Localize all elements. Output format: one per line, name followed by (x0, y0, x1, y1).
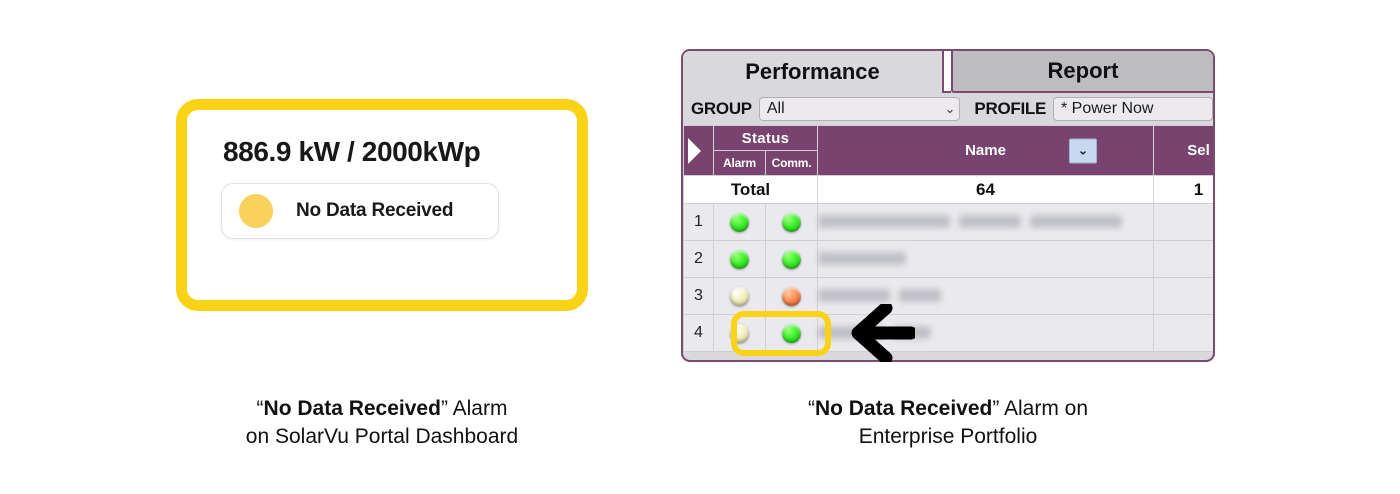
name-header[interactable]: Name ⌄ (818, 126, 1154, 176)
caption-right-suffix: ” Alarm on (992, 397, 1088, 420)
portfolio-table: Status Name ⌄ Sel Alarm Comm. Total 64 1… (683, 125, 1215, 352)
status-led-pale-icon (730, 324, 749, 343)
dashboard-card-highlight-border: 886.9 kW / 2000kWp No Data Received (176, 99, 588, 311)
profile-filter-label: PROFILE (974, 99, 1046, 119)
row-index: 2 (684, 241, 714, 278)
redacted-text-block (818, 215, 950, 228)
status-led-green-icon (782, 250, 801, 269)
alarm-status-label: No Data Received (296, 200, 453, 222)
filter-bar: GROUP All ⌄ PROFILE * Power Now (683, 93, 1213, 125)
row-index: 4 (684, 315, 714, 352)
caption-left-line1: “No Data Received” Alarm (140, 395, 624, 423)
table-row[interactable]: 1 (684, 204, 1216, 241)
comm-status-cell[interactable] (766, 278, 818, 315)
row-marker-header[interactable] (684, 126, 714, 176)
table-row[interactable]: 3 (684, 278, 1216, 315)
tab-strip: Performance Report (683, 51, 1213, 93)
table-body: Total 64 1 1234 (684, 176, 1216, 352)
alarm-sub-header: Alarm (714, 151, 766, 176)
triangle-right-icon (688, 138, 701, 164)
quote-open: “ (808, 397, 815, 420)
select-cell[interactable] (1154, 315, 1216, 352)
redacted-text-block (818, 252, 906, 265)
alarm-status-cell[interactable] (714, 241, 766, 278)
alarm-status-cell[interactable] (714, 278, 766, 315)
caption-left-emphasis: No Data Received (264, 397, 441, 420)
profile-select[interactable]: * Power Now (1053, 97, 1213, 121)
status-led-pale-icon (730, 287, 749, 306)
status-dot-icon (239, 194, 273, 228)
alarm-status-cell[interactable] (714, 204, 766, 241)
tab-separator (942, 51, 951, 93)
caption-left: “No Data Received” Alarm on SolarVu Port… (140, 395, 624, 451)
dashboard-card-content: 886.9 kW / 2000kWp No Data Received (187, 110, 577, 300)
caption-right-line1: “No Data Received” Alarm on (700, 395, 1196, 423)
site-name-cell[interactable] (818, 241, 1154, 278)
status-led-orange-icon (782, 287, 801, 306)
total-row-select: 1 (1154, 176, 1216, 204)
caption-left-line2: on SolarVu Portal Dashboard (140, 423, 624, 451)
comm-status-cell[interactable] (766, 204, 818, 241)
total-row-label: Total (684, 176, 818, 204)
status-led-green-icon (782, 213, 801, 232)
group-filter-label: GROUP (691, 99, 752, 119)
redacted-text-block (818, 289, 890, 302)
quote-open: “ (257, 397, 264, 420)
status-led-green-icon (730, 250, 749, 269)
enterprise-portfolio-panel: Performance Report GROUP All ⌄ PROFILE *… (681, 49, 1215, 362)
select-cell[interactable] (1154, 241, 1216, 278)
group-select[interactable]: All ⌄ (759, 97, 961, 121)
solarvu-dashboard-card-region: 886.9 kW / 2000kWp No Data Received (176, 99, 588, 311)
chevron-down-icon: ⌄ (945, 103, 956, 116)
caption-right-line2: Enterprise Portfolio (700, 423, 1196, 451)
redacted-text-block (1030, 215, 1122, 228)
tab-performance[interactable]: Performance (683, 51, 942, 93)
select-header[interactable]: Sel (1154, 126, 1216, 176)
status-led-green-icon (782, 324, 801, 343)
status-header: Status (714, 126, 818, 151)
comm-status-cell[interactable] (766, 241, 818, 278)
row-index: 1 (684, 204, 714, 241)
name-header-label: Name (965, 142, 1006, 159)
tab-report[interactable]: Report (951, 51, 1213, 93)
chevron-down-icon[interactable]: ⌄ (1069, 138, 1097, 163)
status-led-green-icon (730, 213, 749, 232)
group-select-value: All (767, 100, 785, 118)
caption-left-suffix: ” Alarm (441, 397, 508, 420)
caption-right-emphasis: No Data Received (815, 397, 992, 420)
select-cell[interactable] (1154, 278, 1216, 315)
redacted-text-block (899, 289, 941, 302)
alarm-status-pill[interactable]: No Data Received (221, 183, 499, 239)
select-cell[interactable] (1154, 204, 1216, 241)
table-header: Status Name ⌄ Sel Alarm Comm. (684, 126, 1216, 176)
profile-select-value: * Power Now (1061, 100, 1153, 118)
caption-right: “No Data Received” Alarm on Enterprise P… (700, 395, 1196, 451)
comm-sub-header: Comm. (766, 151, 818, 176)
table-row[interactable]: 4 (684, 315, 1216, 352)
arrow-left-icon (845, 304, 915, 362)
alarm-status-cell[interactable] (714, 315, 766, 352)
comm-status-cell[interactable] (766, 315, 818, 352)
total-row: Total 64 1 (684, 176, 1216, 204)
power-reading-value: 886.9 kW / 2000kWp (223, 138, 543, 166)
table-row[interactable]: 2 (684, 241, 1216, 278)
row-index: 3 (684, 278, 714, 315)
total-row-count: 64 (818, 176, 1154, 204)
site-name-cell[interactable] (818, 204, 1154, 241)
redacted-text-block (959, 215, 1021, 228)
